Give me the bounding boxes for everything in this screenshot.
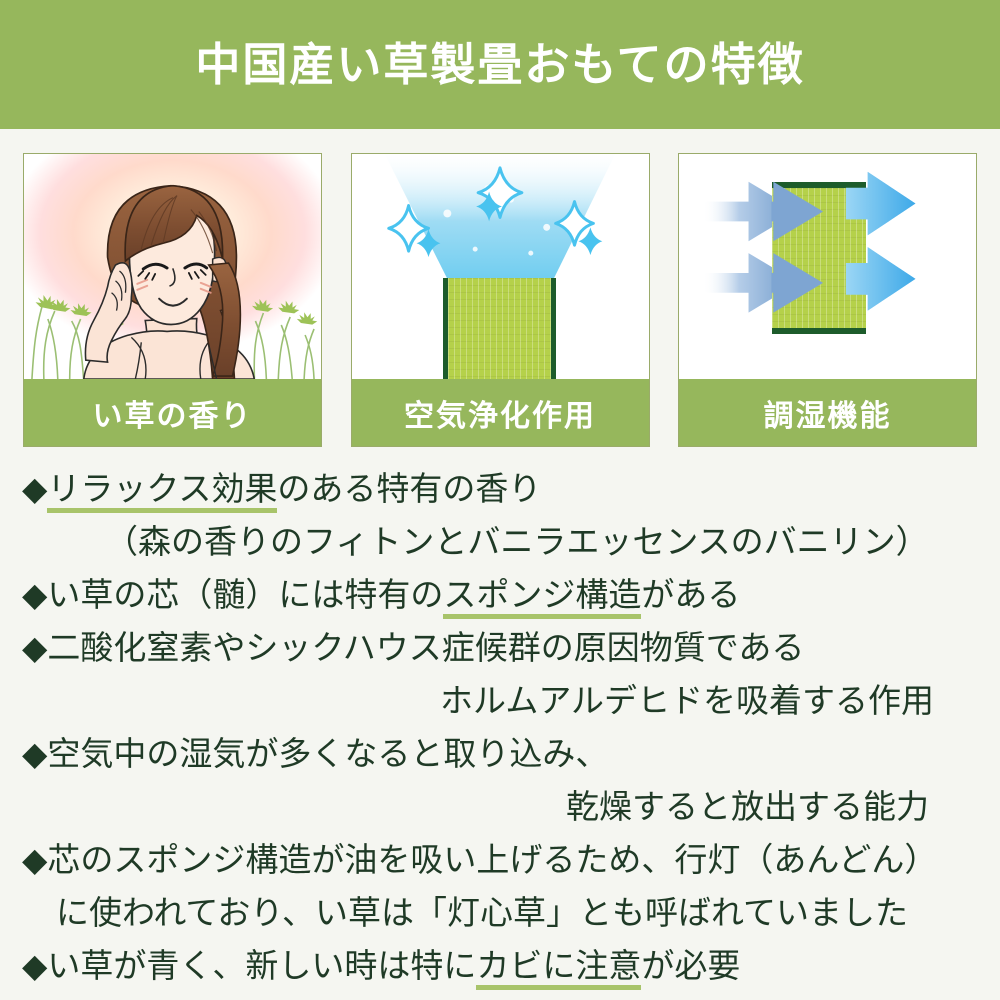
page-title: 中国産い草製畳おもての特徴 — [195, 42, 804, 87]
bullet-text: 二酸化窒素やシックハウス症候群の原因物質である — [47, 629, 804, 666]
humidity-illustration — [679, 154, 976, 379]
bullet-line: ◆芯のスポンジ構造が油を吸い上げるため、行灯（あんどん） — [0, 833, 1000, 886]
bullet-text: がある — [641, 576, 740, 613]
bullet-continuation-line: に使われており、い草は「灯心草」とも呼ばれていました — [0, 886, 1000, 939]
humidity-arrow-overlay-icon — [679, 154, 976, 379]
bullet-text: い草の芯（髄）には特有の — [47, 576, 443, 613]
diamond-bullet-icon: ◆ — [22, 735, 47, 772]
highlighted-text: リラックス効果 — [47, 470, 277, 513]
card-label-scent: い草の香り — [24, 379, 321, 446]
diamond-bullet-icon: ◆ — [22, 947, 47, 984]
diamond-bullet-icon: ◆ — [22, 841, 47, 878]
card-label-air-purify: 空気浄化作用 — [352, 379, 649, 446]
infographic-page: 中国産い草製畳おもての特徴 — [0, 0, 1000, 1000]
highlighted-text: スポンジ構造 — [443, 576, 641, 619]
bullet-text: のある特有の香り — [277, 470, 541, 507]
card-label-humidity: 調湿機能 — [679, 379, 976, 446]
feature-card-row: い草の香り — [23, 153, 977, 447]
bullet-continuation-line: 乾燥すると放出する能力 — [0, 780, 1000, 833]
feature-card-scent[interactable]: い草の香り — [23, 153, 322, 447]
bullet-line: ◆空気中の湿気が多くなると取り込み、 — [0, 727, 1000, 780]
header-banner: 中国産い草製畳おもての特徴 — [0, 0, 1000, 129]
bullet-text: 空気中の湿気が多くなると取り込み、 — [47, 735, 608, 772]
bullet-text: が必要 — [641, 947, 740, 984]
diamond-bullet-icon: ◆ — [22, 629, 47, 666]
air-purify-illustration — [352, 154, 649, 379]
diamond-bullet-icon: ◆ — [22, 470, 47, 507]
bullet-line: ◆い草の芯（髄）には特有のスポンジ構造がある — [0, 568, 1000, 621]
feature-card-humidity[interactable]: 調湿機能 — [678, 153, 977, 447]
bullet-continuation-line: （森の香りのフィトンとバニラエッセンスのバニリン） — [0, 515, 1000, 568]
feature-bullet-list: ◆リラックス効果のある特有の香り（森の香りのフィトンとバニラエッセンスのバニリン… — [0, 462, 1000, 992]
bullet-text: 芯のスポンジ構造が油を吸い上げるため、行灯（あんどん） — [47, 841, 937, 878]
bullet-text: い草が青く、新しい時は特に — [47, 947, 476, 984]
feature-card-air-purify[interactable]: 空気浄化作用 — [351, 153, 650, 447]
tatami-mat-icon — [443, 278, 556, 379]
scent-illustration — [24, 154, 321, 379]
relaxed-woman-icon — [24, 154, 321, 379]
bullet-line: ◆い草が青く、新しい時は特にカビに注意が必要 — [0, 939, 1000, 992]
highlighted-text: カビに注意 — [476, 947, 641, 990]
diamond-bullet-icon: ◆ — [22, 576, 47, 613]
bullet-line: ◆二酸化窒素やシックハウス症候群の原因物質である — [0, 621, 1000, 674]
bullet-continuation-line: ホルムアルデヒドを吸着する作用 — [0, 674, 1000, 727]
bullet-line: ◆リラックス効果のある特有の香り — [0, 462, 1000, 515]
